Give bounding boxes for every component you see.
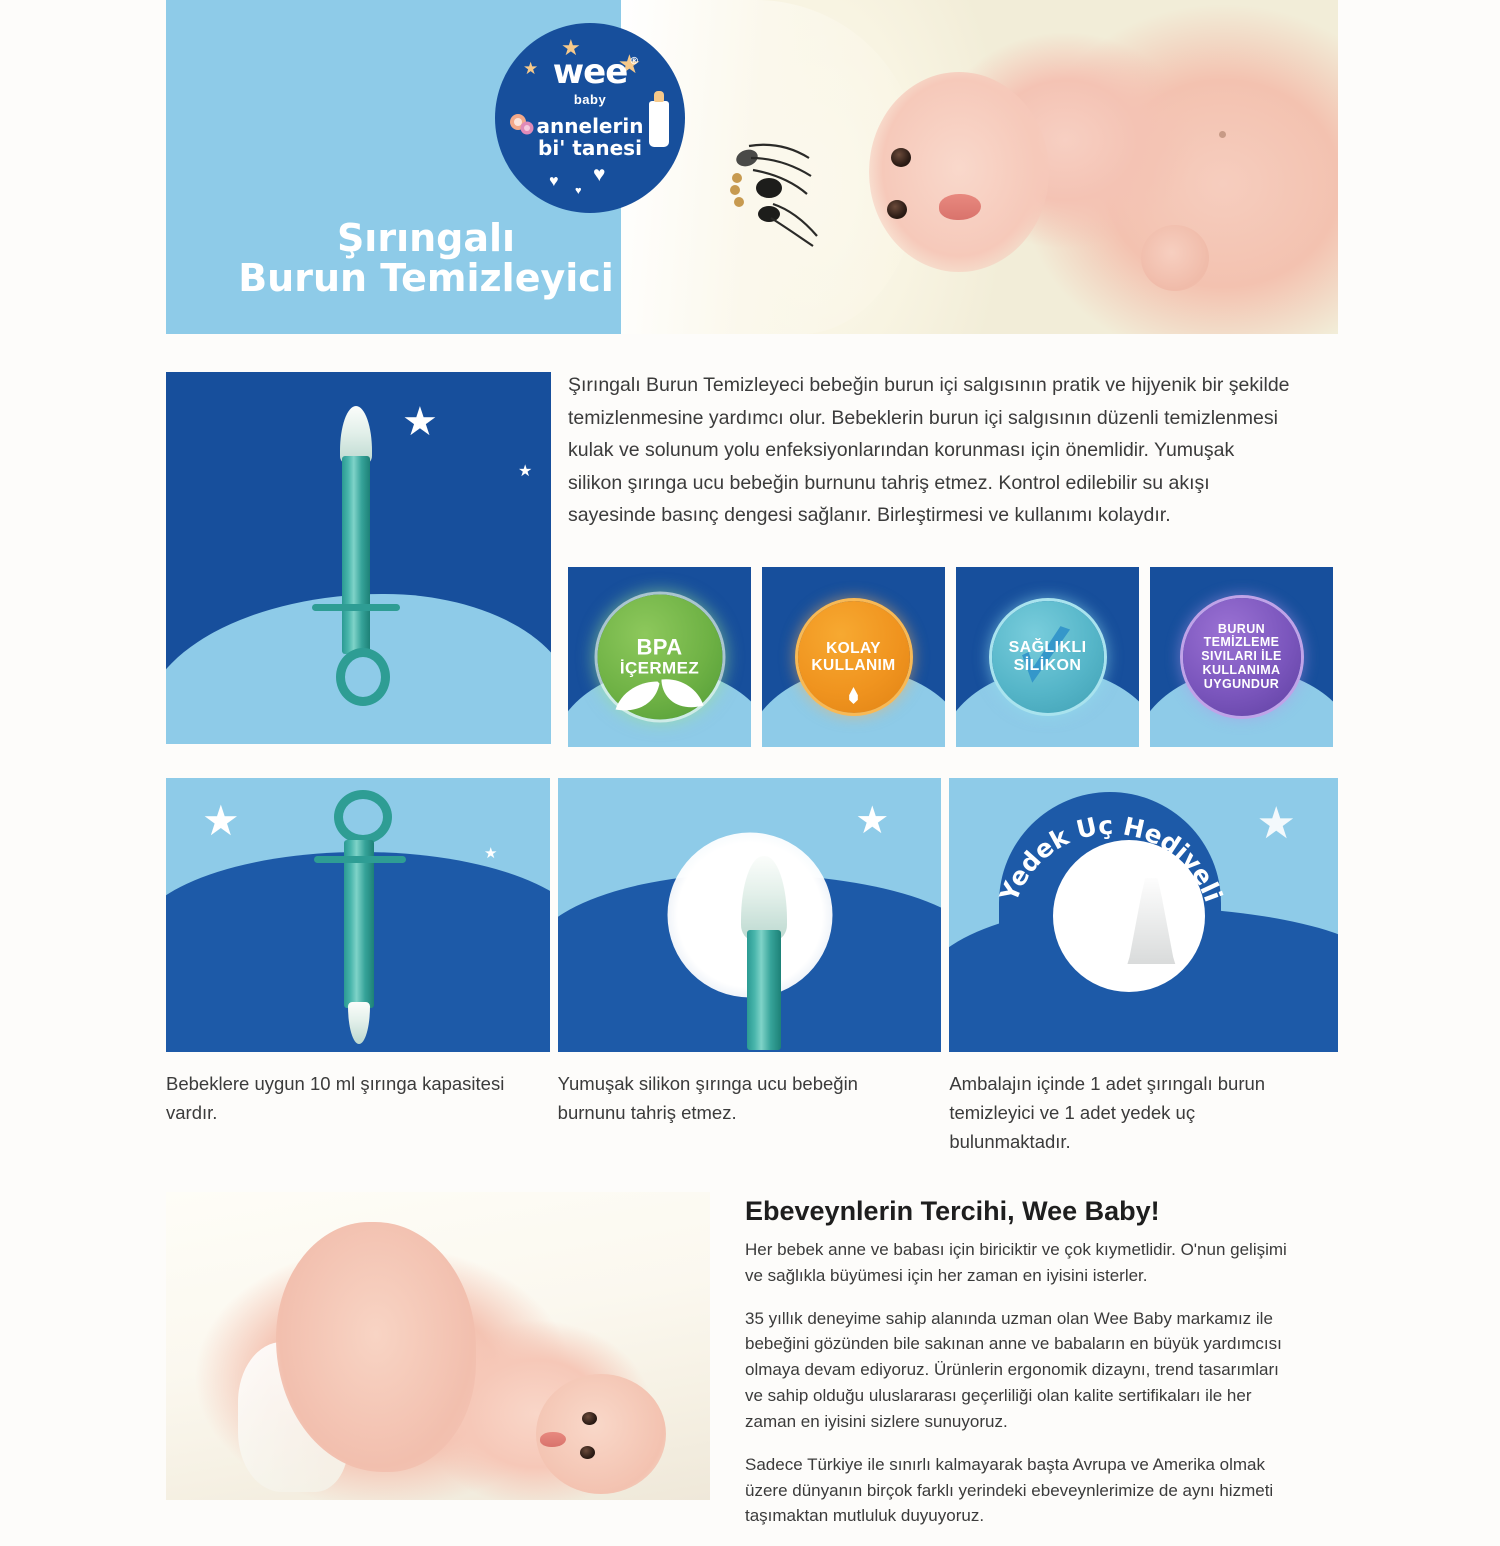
cat-embroidery-icon <box>713 118 863 248</box>
badge-cell-burun: BURUN TEMİZLEME SIVILARI İLE KULLANIMA U… <box>1150 567 1333 747</box>
badge-line-1: KOLAY <box>826 640 881 657</box>
badge-saglikli-silikon: SAĞLIKLI SİLİKON <box>992 601 1104 713</box>
syringe-tip-closeup <box>733 856 793 1052</box>
star-icon: ★ <box>855 802 889 840</box>
baby-eye-left <box>582 1412 597 1425</box>
pacifier-icon <box>509 111 535 143</box>
slogan-line-1: annelerin <box>537 114 644 138</box>
baby-bottle-icon <box>649 101 669 147</box>
skin-mark <box>1219 131 1226 138</box>
svg-text:Yedek Uç Hediyeli: Yedek Uç Hediyeli <box>994 811 1228 907</box>
syringe-product <box>326 406 386 716</box>
plunger-ring <box>334 790 392 844</box>
brand-story-title: Ebeveynlerin Tercihi, Wee Baby! <box>745 1196 1290 1227</box>
badge-line-5: UYGUNDUR <box>1204 678 1279 692</box>
badge-cell-bpa: BPA İÇERMEZ <box>568 567 751 747</box>
brand-story-photo <box>166 1192 710 1500</box>
slogan-line-2: bi' tanesi <box>538 136 642 160</box>
brand-subtext: baby <box>574 92 606 107</box>
hero-baby-photo <box>621 0 1338 334</box>
brand-wordmark: wee® <box>553 55 628 89</box>
cat-face-svg <box>713 118 863 248</box>
title-line-2: Burun Temizleyici <box>166 258 686 298</box>
plunger-ring <box>336 648 390 706</box>
badge-line-2: SİLİKON <box>1014 657 1082 675</box>
syringe-barrel <box>342 456 370 654</box>
silicone-tip <box>348 1002 370 1044</box>
star-icon: ★ <box>202 800 240 842</box>
page-title: Şırıngalı Burun Temizleyici <box>166 218 686 299</box>
feature-image-capacity: ★ ★ <box>166 778 550 1052</box>
caption-soft-tip: Yumuşak silikon şırınga ucu bebeğin burn… <box>558 1070 942 1157</box>
finger-flange <box>314 856 406 863</box>
badge-cell-kolay: KOLAY KULLANIM <box>762 567 945 747</box>
feature-image-soft-tip: ★ <box>558 778 942 1052</box>
brand-text: wee <box>553 52 628 92</box>
baby-eye-right <box>580 1446 595 1459</box>
brand-story-paragraph-1: Her bebek anne ve babası için biriciktir… <box>745 1237 1290 1289</box>
heart-icon: ♥ <box>593 163 605 187</box>
baby-mouth <box>939 194 981 220</box>
badge-line-1: SAĞLIKLI <box>1009 639 1087 657</box>
badge-line-2: KULLANIM <box>811 657 895 674</box>
heart-icon: ♥ <box>549 173 559 191</box>
badge-line-4: KULLANIMA <box>1203 664 1281 678</box>
badge-cell-saglikli: SAĞLIKLI SİLİKON <box>956 567 1139 747</box>
feature-images: ★ ★ ★ <box>166 778 1338 1052</box>
syringe-barrel <box>344 840 374 1008</box>
syringe-product-inverted <box>326 790 388 1042</box>
registered-mark: ® <box>629 57 638 67</box>
badge-burun-temizleme: BURUN TEMİZLEME SIVILARI İLE KULLANIMA U… <box>1183 598 1301 716</box>
drop-icon <box>848 687 860 704</box>
star-icon: ★ <box>484 846 497 861</box>
baby-mouth <box>540 1432 566 1447</box>
gift-badge-text: Yedek Uç Hediyeli <box>994 811 1228 907</box>
brand-story-paragraph-2: 35 yıllık deneyime sahip alanında uzman … <box>745 1306 1290 1435</box>
star-icon: ★ <box>402 402 438 442</box>
badge-line-3: SIVILARI İLE <box>1201 650 1282 664</box>
product-hero-image: ★ ★ <box>166 372 551 744</box>
syringe-barrel <box>747 930 781 1050</box>
pacifier-svg <box>509 111 535 137</box>
caption-capacity: Bebeklere uygun 10 ml şırınga kapasitesi… <box>166 1070 550 1157</box>
brand-story-paragraph-3: Sadece Türkiye ile sınırlı kalmayarak ba… <box>745 1452 1290 1529</box>
hero-banner: ★ ★ ★ wee® baby annelerin bi' tanesi ♥ <box>166 0 1338 334</box>
badge-line-1: BPA <box>636 636 682 660</box>
baby-head <box>536 1374 666 1494</box>
silicone-tip <box>741 856 787 940</box>
star-icon: ★ <box>523 59 538 79</box>
product-description: Şırıngalı Burun Temizleyeci bebeğin buru… <box>568 369 1290 532</box>
brand-logo-badge: ★ ★ ★ wee® baby annelerin bi' tanesi ♥ <box>495 23 685 213</box>
gift-arc-label: Yedek Uç Hediyeli <box>989 784 1233 1028</box>
caption-package-contents: Ambalajın içinde 1 adet şırıngalı burun … <box>949 1070 1338 1157</box>
heart-icon: ♥ <box>575 185 582 197</box>
feature-badges: BPA İÇERMEZ KOLAY KULLANIM S <box>568 567 1338 747</box>
product-detail-page: ★ ★ ★ wee® baby annelerin bi' tanesi ♥ <box>0 0 1500 1500</box>
brand-slogan: annelerin bi' tanesi <box>537 116 644 159</box>
baby-eye-right <box>887 200 907 219</box>
finger-flange <box>312 604 400 611</box>
baby-face <box>869 72 1049 272</box>
title-line-1: Şırıngalı <box>166 218 686 258</box>
badge-kolay-kullanim: KOLAY KULLANIM <box>798 601 910 713</box>
brand-story-text: Ebeveynlerin Tercihi, Wee Baby! Her bebe… <box>745 1196 1290 1546</box>
badge-bpa: BPA İÇERMEZ <box>597 595 722 720</box>
badge-line-2: İÇERMEZ <box>620 660 699 679</box>
star-icon: ★ <box>1257 802 1296 846</box>
baby-hand <box>1141 225 1209 291</box>
baby-eye-left <box>891 148 911 167</box>
feature-image-spare-tip: Yedek Uç Hediyeli ★ <box>949 778 1338 1052</box>
star-icon: ★ <box>518 464 532 480</box>
feature-captions: Bebeklere uygun 10 ml şırınga kapasitesi… <box>166 1070 1338 1157</box>
